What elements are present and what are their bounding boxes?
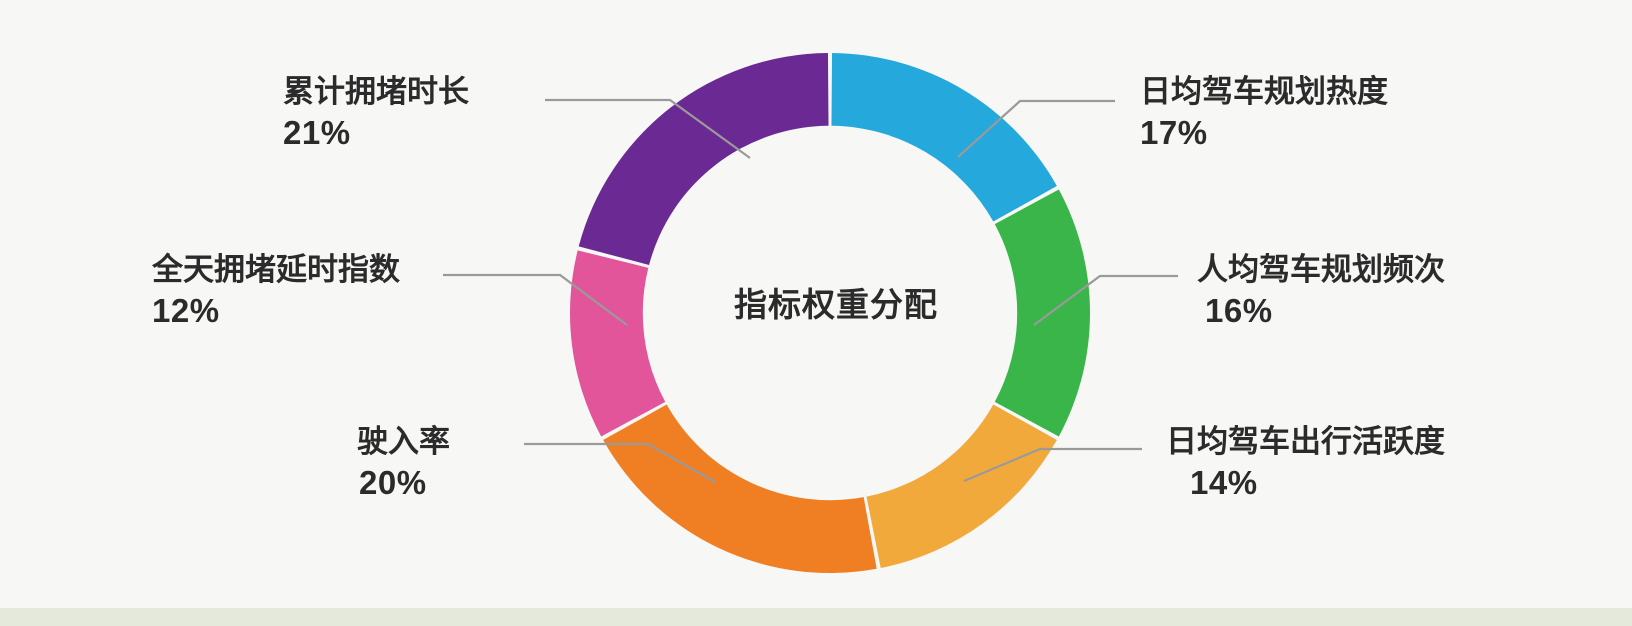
slice-leiji-yongdu-shichang[interactable] [579,53,829,265]
slice-label-value: 21% [283,112,469,154]
slice-label-text: 全天拥堵延时指数 [152,252,400,287]
slice-label-rijun-jiache-chuxing-huoyuedu[interactable]: 日均驾车出行活跃度 14% [1166,422,1445,504]
slice-label-value: 20% [357,462,450,504]
slice-label-text: 驶入率 [357,424,450,459]
slice-shirulv[interactable] [603,404,877,573]
slice-label-text: 日均驾车规划热度 [1140,74,1388,109]
slice-label-text: 累计拥堵时长 [283,74,469,109]
slice-label-text: 人均驾车规划频次 [1197,252,1445,287]
slice-rijun-jiache-chuxing-huoyuedu[interactable] [867,404,1057,568]
slice-label-value: 14% [1166,462,1445,504]
slice-label-value: 12% [152,290,400,332]
slice-label-text: 日均驾车出行活跃度 [1166,424,1445,459]
slice-label-value: 17% [1140,112,1388,154]
slice-label-quantian-yongdu-yanshi-zhishu[interactable]: 全天拥堵延时指数 12% [152,250,400,332]
slice-label-renjun-jiache-guihua-pinci[interactable]: 人均驾车规划频次 16% [1197,250,1445,332]
slice-label-leiji-yongdu-shichang[interactable]: 累计拥堵时长 21% [283,72,469,154]
slice-label-value: 16% [1197,290,1445,332]
footer-band [0,608,1632,626]
chart-center-title: 指标权重分配 [646,278,1026,326]
slice-label-rijun-jiache-guihua-redu[interactable]: 日均驾车规划热度 17% [1140,72,1388,154]
donut-chart-figure: 指标权重分配 累计拥堵时长 21% 全天拥堵延时指数 12% 驶入率 20% 日… [0,0,1632,626]
slice-rijun-jiache-guihua-redu[interactable] [831,53,1056,222]
slice-label-shirulv[interactable]: 驶入率 20% [357,422,450,504]
